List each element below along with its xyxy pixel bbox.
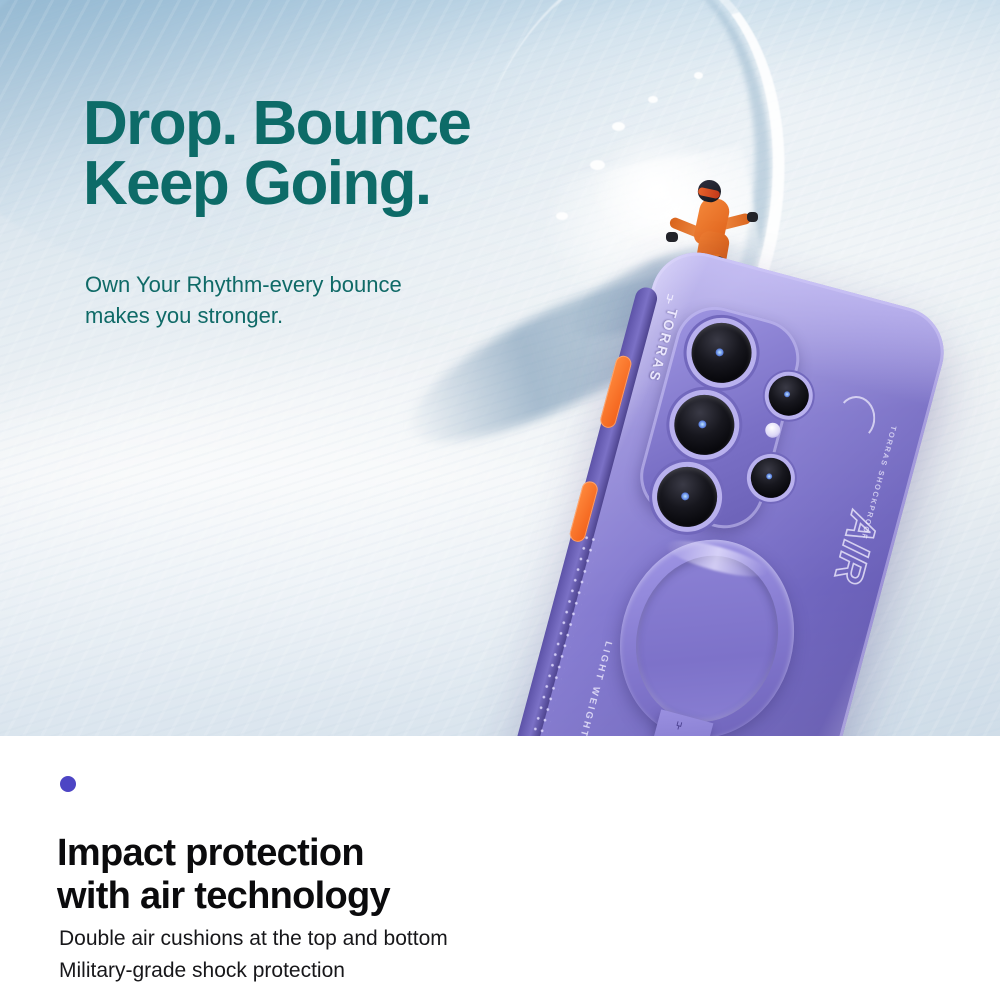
lens-flare [680, 491, 690, 501]
rider-glove-right [747, 212, 758, 222]
feature-title-line-2: with air technology [57, 875, 577, 918]
feature-title-line-1: Impact protection [57, 832, 577, 875]
lens-flare [715, 347, 725, 357]
hero-headline-line-1: Drop. Bounce [83, 94, 643, 155]
lens-flare [783, 391, 790, 398]
lens-flare [766, 473, 773, 480]
snow-chunk [648, 96, 658, 103]
lens-flare [698, 419, 708, 429]
hero-headline: Drop. Bounce Keep Going. [83, 94, 643, 216]
hero-subtext: Own Your Rhythm-every bounce makes you s… [85, 269, 555, 331]
rider-glove-left [666, 232, 678, 242]
product-marketing-banner: Drop. Bounce Keep Going. Own Your Rhythm… [0, 0, 1000, 1000]
hero-subtext-line-2: makes you stronger. [85, 300, 555, 331]
feature-title: Impact protection with air technology [57, 832, 577, 919]
feature-description-line-1: Double air cushions at the top and botto… [59, 923, 619, 955]
snow-chunk [694, 72, 703, 79]
bullet-dot-icon [60, 776, 76, 792]
feature-description: Double air cushions at the top and botto… [59, 923, 619, 987]
hero-headline-line-2: Keep Going. [83, 154, 643, 215]
hero-subtext-line-1: Own Your Rhythm-every bounce [85, 269, 555, 300]
feature-description-line-2: Military-grade shock protection [59, 955, 619, 987]
